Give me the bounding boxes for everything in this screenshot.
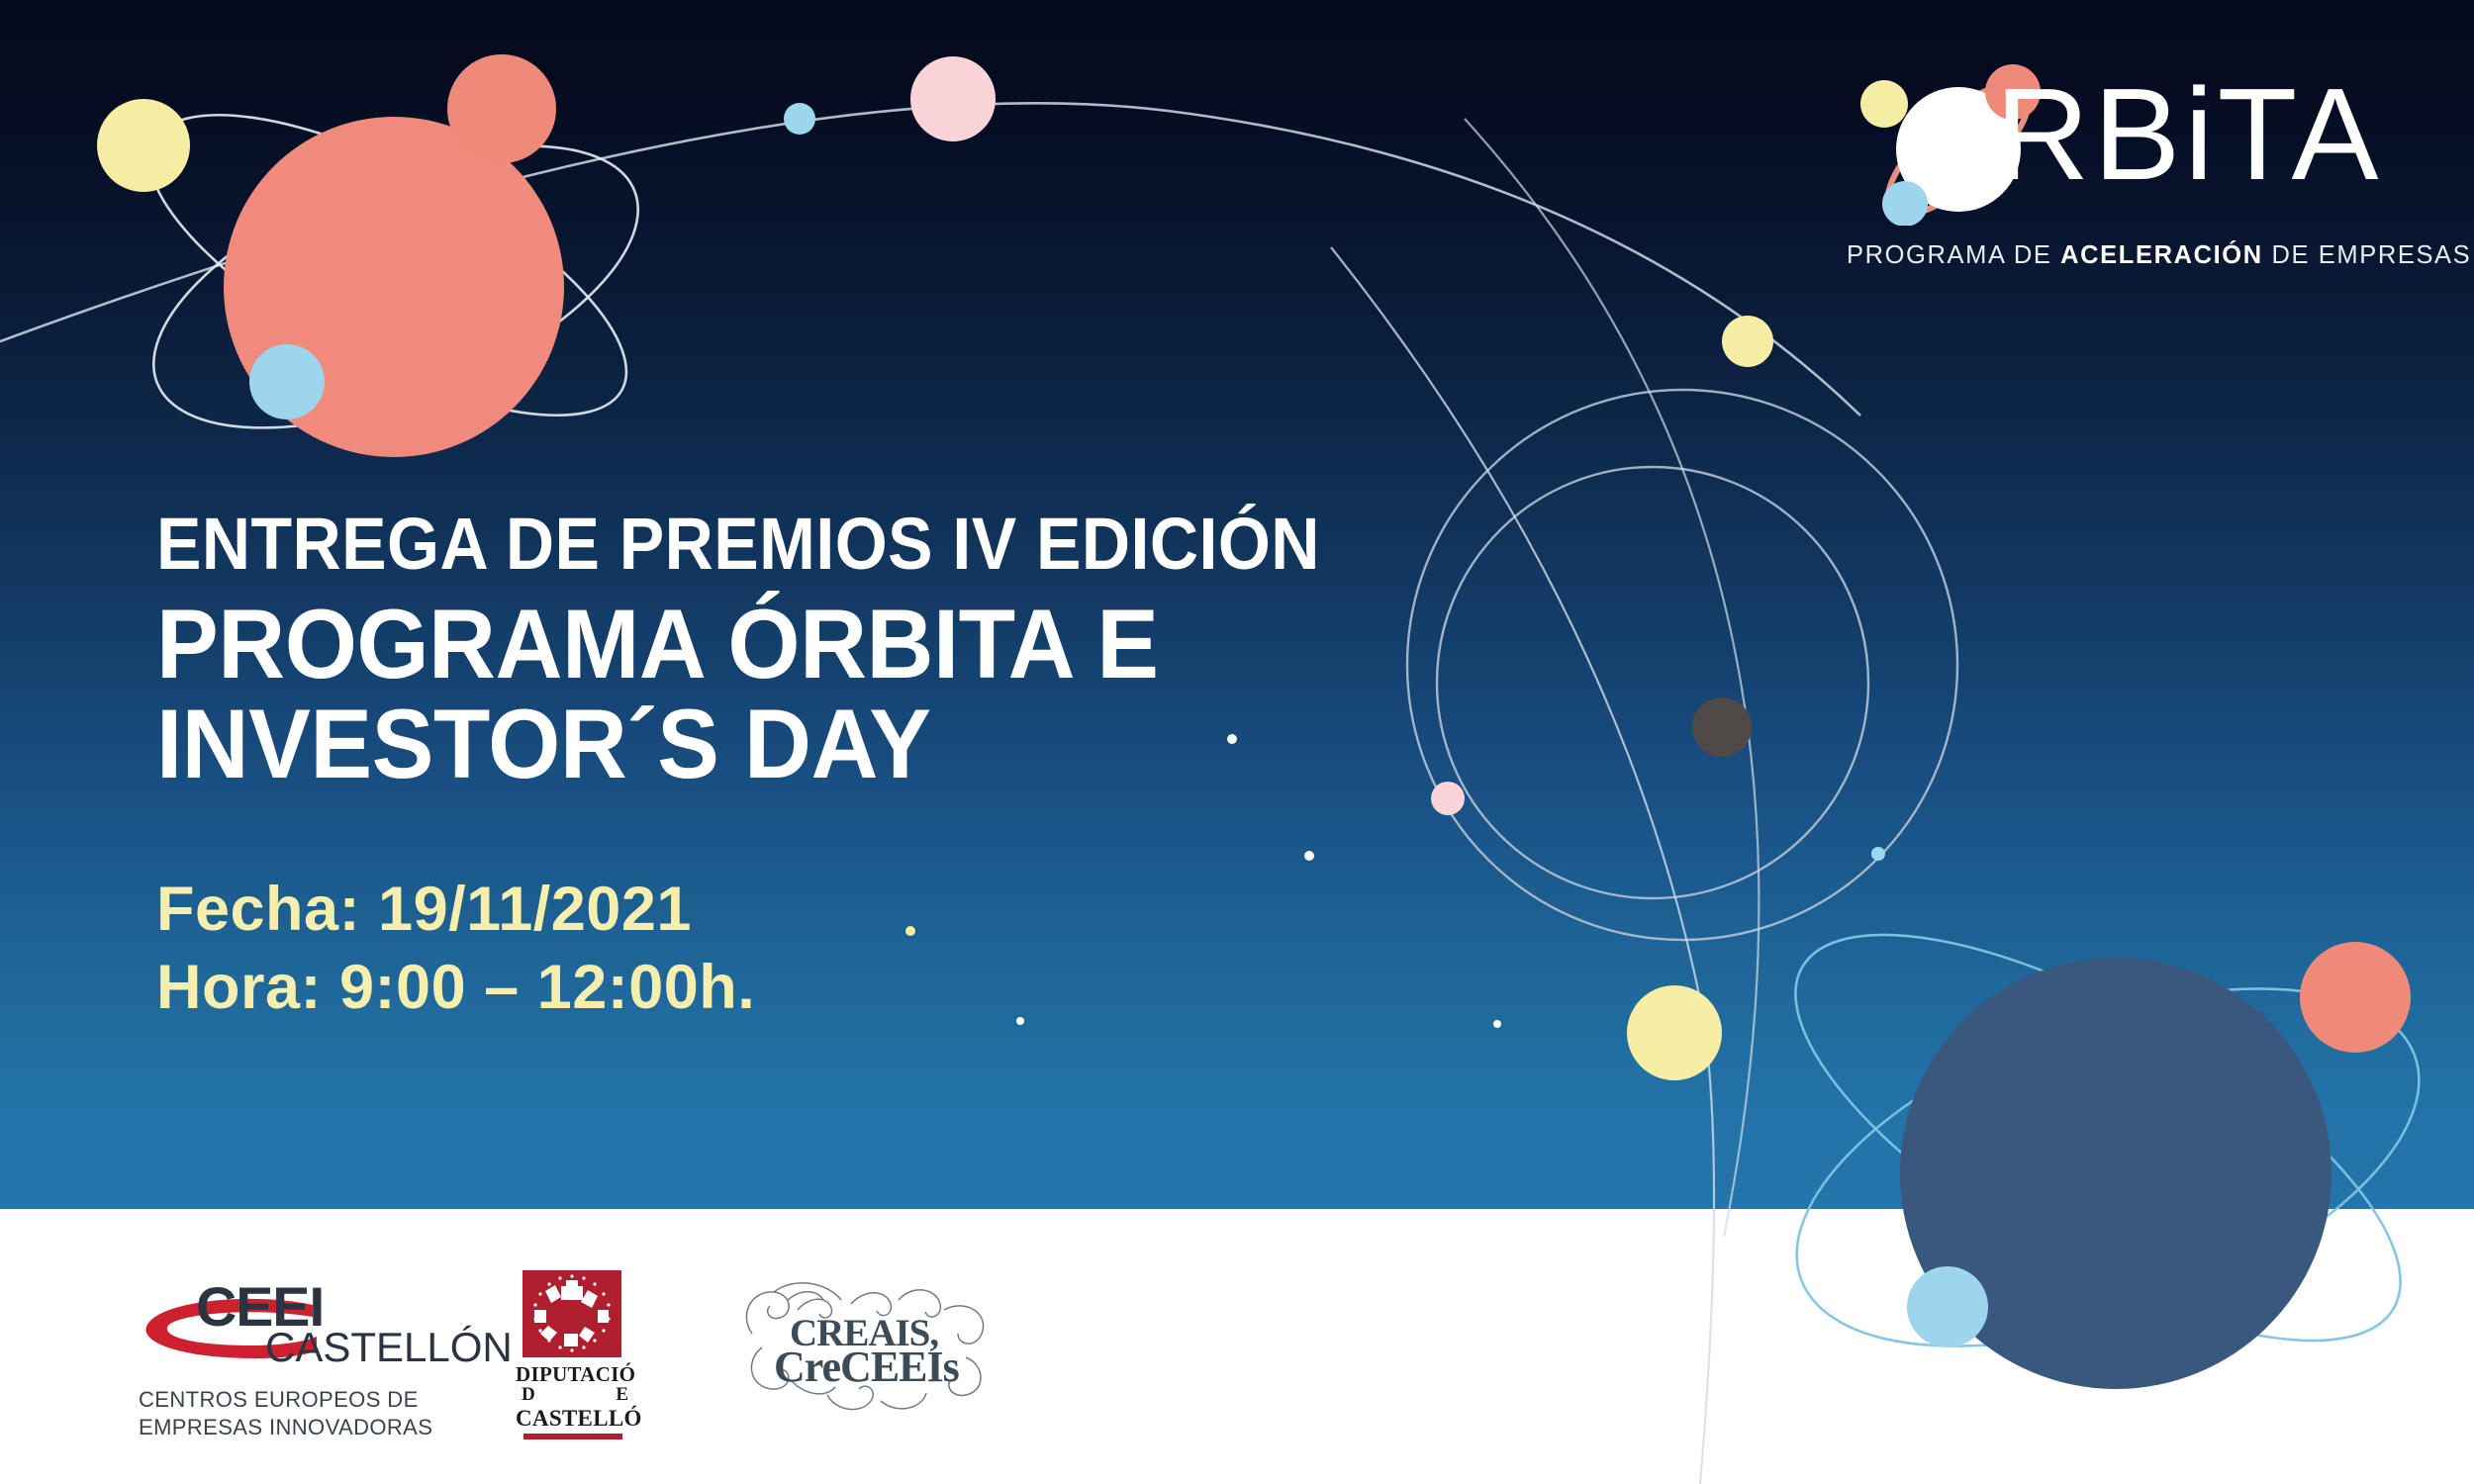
tagline-post: DE EMPRESAS: [2263, 241, 2472, 269]
diputacio-line-2: D E: [522, 1384, 628, 1406]
diputacio-logo: DIPUTACIÓ D E CASTELLÓ: [516, 1270, 634, 1438]
headline-main: PROGRAMA ÓRBITA E INVESTOR´S DAY: [156, 595, 1567, 794]
tagline-bold: ACELERACIÓN: [2060, 241, 2263, 269]
ceei-tagline-line-1: CENTROS EUROPEOS DE: [139, 1386, 432, 1414]
event-date: Fecha: 19/11/2021: [156, 871, 755, 949]
diputacio-crest: [523, 1270, 621, 1357]
creais-logo: CREAIS, CreCEEIs: [732, 1270, 1019, 1419]
ceei-city: CASTELLÓN: [265, 1327, 513, 1368]
orbita-tagline: PROGRAMA DE ACELERACIÓN DE EMPRESAS: [1847, 241, 2421, 270]
orbita-logo: RBiTA PROGRAMA DE ACELERACIÓN DE EMPRESA…: [1847, 47, 2421, 275]
headline-kicker: ENTREGA DE PREMIOS IV EDICIÓN: [156, 508, 1522, 581]
event-time: Hora: 9:00 – 12:00h.: [156, 949, 755, 1027]
creais-line-2: CreCEEIs: [774, 1345, 959, 1389]
promo-banner: RBiTA PROGRAMA DE ACELERACIÓN DE EMPRESA…: [0, 0, 2474, 1484]
event-details: Fecha: 19/11/2021 Hora: 9:00 – 12:00h.: [156, 871, 755, 1028]
diputacio-de-left: D: [522, 1384, 535, 1406]
headline-block: ENTREGA DE PREMIOS IV EDICIÓN PROGRAMA Ó…: [156, 508, 1641, 794]
ceei-tagline-line-2: EMPRESAS INNOVADORAS: [139, 1414, 432, 1441]
logo-yellow-dot: [1860, 80, 1908, 128]
ceei-tagline: CENTROS EUROPEOS DE EMPRESAS INNOVADORAS: [139, 1386, 432, 1441]
ceei-logo: CEEI CASTELLÓN CENTROS EUROPEOS DE EMPRE…: [139, 1283, 465, 1441]
logo-blue-dot: [1882, 181, 1928, 226]
ceei-logo-top: CEEI CASTELLÓN: [139, 1283, 465, 1372]
orbita-wordmark: RBiTA: [1995, 69, 2383, 200]
headline-line-1: PROGRAMA ÓRBITA E: [156, 595, 1567, 695]
diputacio-line-3: CASTELLÓ: [516, 1406, 634, 1432]
sponsor-logos: CEEI CASTELLÓN CENTROS EUROPEOS DE EMPRE…: [0, 1209, 2474, 1484]
diputacio-crest-icon: [523, 1270, 621, 1357]
headline-line-2: INVESTOR´S DAY: [156, 695, 1567, 794]
tagline-pre: PROGRAMA DE: [1847, 241, 2060, 269]
diputacio-de-right: E: [616, 1384, 628, 1406]
diputacio-underline: [523, 1434, 622, 1439]
